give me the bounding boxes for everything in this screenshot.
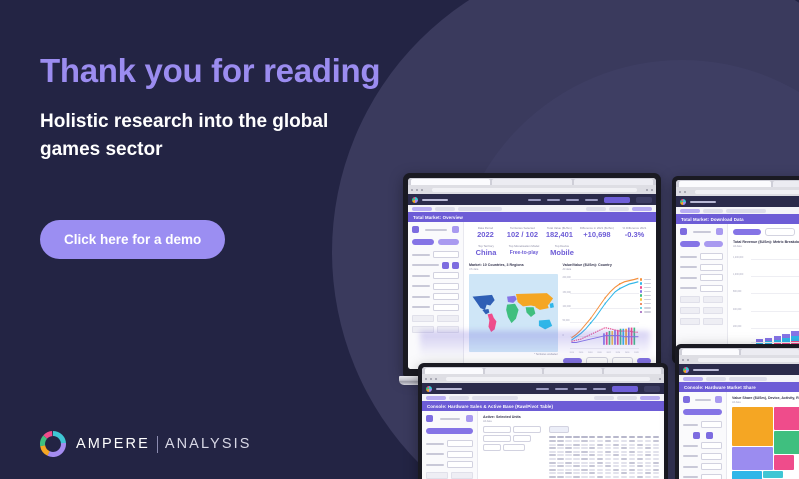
chart-legend[interactable] [640, 278, 652, 315]
table-grid[interactable] [549, 426, 659, 479]
forward-icon[interactable] [430, 378, 432, 380]
reload-icon[interactable] [435, 378, 437, 380]
filter-select[interactable] [433, 293, 459, 300]
dashboard-main: Total Revenue ($USm): Metric Breakdown A… [728, 224, 799, 360]
legend-item [640, 286, 652, 289]
browser-tab-strip[interactable] [422, 367, 664, 374]
kpi-card: Top Monetisation Model Free-to-play [507, 244, 541, 258]
kpi-card: Total Value ($USm) 182,401 [543, 226, 576, 240]
filter-cell[interactable] [412, 315, 434, 322]
app-body: Active: Selected Units All data [422, 411, 664, 479]
app-title: Total Market: Download Data [681, 217, 744, 222]
table-row [549, 476, 659, 478]
period-button[interactable] [426, 428, 473, 434]
browser-tab-strip[interactable] [408, 178, 656, 185]
tablet-browser-window[interactable]: Console: Hardware Market Share [679, 348, 799, 479]
filter-label [680, 287, 697, 289]
filter-cell[interactable] [451, 472, 473, 479]
browser-tab[interactable] [773, 181, 799, 187]
forward-icon[interactable] [684, 191, 686, 193]
filter-cell[interactable] [680, 296, 700, 303]
breadcrumb[interactable] [408, 205, 656, 212]
nav-item[interactable] [585, 199, 598, 201]
legend-item [640, 282, 652, 285]
filter-select[interactable] [701, 442, 722, 449]
sidebar-settings-icon[interactable] [715, 396, 722, 403]
reload-icon[interactable] [421, 189, 423, 191]
kpi-value: Free-to-play [507, 248, 541, 258]
table-row [549, 451, 659, 453]
line-chart-toggle[interactable] [765, 228, 795, 236]
nav-item[interactable] [547, 199, 560, 201]
legend-item [640, 311, 652, 314]
filter-select[interactable] [701, 463, 722, 470]
app-title: Console: Hardware Market Share [684, 385, 756, 390]
nav-item[interactable] [593, 388, 606, 390]
app-title: Total Market: Overview [413, 215, 463, 220]
nav-secondary-button[interactable] [636, 197, 652, 203]
table-tab[interactable] [549, 426, 569, 433]
table-row [549, 454, 659, 456]
donut-chart-icon [40, 431, 66, 457]
laptop-glow [420, 331, 650, 357]
filter-toggle[interactable] [693, 432, 700, 439]
menu-icon[interactable] [651, 189, 653, 191]
row-header-list[interactable] [483, 426, 546, 479]
toolbar-action-primary[interactable] [632, 207, 652, 211]
toolbar-action[interactable] [586, 207, 606, 211]
filter-select[interactable] [447, 461, 473, 468]
field-chip[interactable] [483, 426, 511, 433]
filter-select[interactable] [701, 421, 722, 428]
table-row [549, 469, 659, 471]
kpi-value: 2022 [469, 230, 502, 240]
filter-select[interactable] [447, 440, 473, 447]
filter-select[interactable] [700, 274, 723, 281]
filter-label [680, 277, 697, 279]
breadcrumb-actions[interactable] [594, 396, 660, 400]
filter-label [426, 464, 444, 466]
breadcrumb-item[interactable] [683, 377, 703, 381]
treemap-chart-top[interactable] [732, 407, 799, 479]
filter-label [412, 296, 430, 298]
app-title-bar: Console: Hardware Market Share [679, 382, 799, 392]
filter-toggle[interactable] [452, 262, 459, 269]
ampere-analysis-logo[interactable]: AMPERE ANALYSIS [40, 431, 252, 457]
kpi-value: +10,698 [580, 230, 614, 240]
filter-cell[interactable] [703, 318, 723, 325]
panel-title: Market: 10 Countries, 3 Regions [469, 263, 558, 267]
breadcrumb-search-input[interactable] [729, 377, 767, 381]
toolbar-action[interactable] [609, 207, 629, 211]
app-logo-icon [680, 199, 686, 205]
breadcrumb-search-input[interactable] [726, 209, 766, 213]
stacked-bar-chart[interactable]: 1,200,000 1,000,000 800,000 400,000 200,… [733, 251, 799, 347]
legend-item [640, 303, 652, 306]
app-header [408, 194, 656, 205]
period-button[interactable] [438, 239, 460, 245]
breadcrumb-actions[interactable] [586, 207, 652, 211]
filter-toggle[interactable] [706, 432, 713, 439]
sidebar-header-label [440, 418, 460, 420]
chart-gridlines [733, 251, 799, 347]
table-row [549, 458, 659, 460]
breadcrumb-item[interactable] [435, 207, 455, 211]
filter-sidebar[interactable] [422, 411, 478, 479]
panel-subtitle: All data [732, 401, 799, 404]
filter-select[interactable] [433, 272, 459, 279]
breadcrumb[interactable] [422, 394, 664, 401]
browser-tab[interactable] [604, 368, 662, 374]
treemap-tile[interactable] [774, 431, 799, 454]
treemap-main: Value Share ($USm), Device, Activity, Re… [727, 392, 799, 479]
filter-select[interactable] [701, 453, 722, 460]
breadcrumb[interactable] [679, 375, 799, 382]
period-button[interactable] [683, 409, 722, 415]
app-logo-icon [683, 367, 689, 373]
browser-tab[interactable] [492, 179, 571, 185]
sidebar-header-label [695, 399, 711, 401]
panel-subtitle: US data [469, 268, 558, 271]
app-logo-wordmark [422, 199, 448, 201]
panel-subtitle: All data [563, 268, 652, 271]
browser-tab[interactable] [425, 368, 483, 374]
url-input[interactable] [432, 188, 637, 192]
hero-copy: Thank you for reading Holistic research … [40, 52, 440, 164]
breadcrumb-item[interactable] [703, 209, 723, 213]
nav-item[interactable] [536, 388, 549, 390]
panel-subtitle: All data [733, 245, 799, 248]
period-button[interactable] [680, 241, 700, 247]
logo-text-primary: AMPERE [76, 436, 150, 452]
kpi-value: -0.3% [618, 230, 651, 240]
device-tablet-right: Total Market: Download Data [672, 176, 799, 364]
field-chip[interactable] [513, 426, 541, 433]
tablet-bezel: Console: Hardware Market Share [675, 344, 799, 479]
device-tablet-bottom-right: Console: Hardware Market Share [675, 344, 799, 479]
app-logo-icon [412, 197, 418, 203]
filter-select[interactable] [700, 285, 723, 292]
field-chip[interactable] [503, 444, 525, 451]
toolbar-action-primary[interactable] [640, 396, 660, 400]
kpi-strip-secondary: Top Territory China Top Monetisation Mod… [469, 244, 651, 258]
filter-select[interactable] [700, 264, 723, 271]
filter-sidebar[interactable] [676, 224, 728, 360]
kpi-card: % Difference 2021 -0.3% [618, 226, 651, 240]
app-body: Value Share ($USm), Device, Activity, Re… [679, 392, 799, 479]
nav-item[interactable] [528, 199, 541, 201]
app-logo-wordmark [693, 369, 719, 371]
filter-sidebar[interactable] [679, 392, 727, 479]
kpi-value: Mobile [545, 248, 579, 258]
tablet-bezel: Console: Hardware Sales & Active Base (R… [418, 363, 668, 479]
sidebar-toggle-icon[interactable] [680, 228, 687, 235]
browser-tab[interactable] [411, 179, 490, 185]
field-chips[interactable] [483, 426, 546, 451]
period-button[interactable] [704, 241, 724, 247]
filter-label [683, 455, 698, 457]
tablet-bezel: Total Market: Download Data [672, 176, 799, 364]
breadcrumb[interactable] [676, 207, 799, 214]
app-title-bar: Total Market: Download Data [676, 214, 799, 224]
legend-item [640, 307, 652, 310]
back-icon[interactable] [679, 191, 681, 193]
app-nav[interactable] [536, 386, 660, 392]
filter-select[interactable] [447, 451, 473, 458]
kpi-card: Top Device Mobile [545, 244, 579, 258]
table-row [549, 447, 659, 449]
url-input[interactable] [446, 377, 650, 381]
filter-toggle[interactable] [442, 262, 449, 269]
browser-tab[interactable] [682, 349, 739, 355]
device-tablet-bottom-left: Console: Hardware Sales & Active Base (R… [418, 363, 668, 479]
nav-secondary-button[interactable] [644, 386, 660, 392]
url-input[interactable] [695, 190, 799, 194]
filter-select[interactable] [700, 253, 723, 260]
sidebar-toggle-icon[interactable] [683, 396, 690, 403]
app-logo-wordmark [436, 388, 462, 390]
kpi-card: Difference in 2021 ($USm) +10,698 [580, 226, 614, 240]
filter-select[interactable] [433, 304, 459, 311]
filter-label [412, 285, 430, 287]
app-title: Console: Hardware Sales & Active Base (R… [427, 404, 553, 409]
panel-title: Total Revenue ($USm): Metric Breakdown [733, 240, 799, 244]
filter-cell[interactable] [703, 296, 723, 303]
browser-address-bar[interactable] [676, 187, 799, 196]
tablet-browser-window[interactable]: Console: Hardware Sales & Active Base (R… [422, 367, 664, 479]
sidebar-settings-icon[interactable] [452, 226, 459, 233]
filter-cell[interactable] [426, 472, 448, 479]
filter-label [412, 275, 430, 277]
tablet-browser-window[interactable]: Total Market: Download Data [676, 180, 799, 360]
browser-tab-strip[interactable] [676, 180, 799, 187]
sidebar-settings-icon[interactable] [466, 415, 473, 422]
app-nav[interactable] [528, 197, 652, 203]
kpi-card: Territories Selected 102 / 102 [506, 226, 539, 240]
forward-icon[interactable] [687, 359, 689, 361]
browser-tab[interactable] [679, 181, 771, 187]
browser-tab[interactable] [544, 368, 602, 374]
chart-type-toggle[interactable] [733, 228, 799, 236]
table-row [549, 462, 659, 464]
kpi-card: Data Period 2022 [469, 226, 502, 240]
legend-item [640, 298, 652, 301]
app-header [422, 383, 664, 394]
legend-item [640, 290, 652, 293]
forward-icon[interactable] [416, 189, 418, 191]
demo-cta-button[interactable]: Click here for a demo [40, 220, 225, 259]
nav-item[interactable] [574, 388, 587, 390]
app-title-bar: Console: Hardware Sales & Active Base (R… [422, 401, 664, 411]
browser-tab[interactable] [574, 179, 653, 185]
toolbar-action[interactable] [617, 396, 637, 400]
kpi-value: China [469, 248, 503, 258]
filter-select[interactable] [433, 283, 459, 290]
filter-label [683, 466, 698, 468]
sidebar-toggle-icon[interactable] [412, 226, 419, 233]
filter-label [412, 264, 439, 266]
breadcrumb-item[interactable] [449, 396, 469, 400]
url-input[interactable] [698, 358, 799, 362]
filter-cell[interactable] [703, 307, 723, 314]
filter-select[interactable] [433, 251, 459, 258]
breadcrumb-item[interactable] [706, 377, 726, 381]
breadcrumb-item[interactable] [426, 396, 446, 400]
browser-tab[interactable] [741, 349, 798, 355]
filter-select[interactable] [701, 474, 722, 479]
filter-label [426, 443, 444, 445]
sidebar-header-label [425, 229, 447, 231]
breadcrumb-item[interactable] [680, 209, 700, 213]
browser-address-bar[interactable] [679, 355, 799, 364]
sidebar-settings-icon[interactable] [716, 228, 723, 235]
table-header-row [549, 436, 659, 438]
bar-chart-toggle[interactable] [733, 229, 761, 235]
filter-label [683, 424, 698, 426]
logo-text-secondary: ANALYSIS [165, 436, 252, 452]
filter-label [426, 453, 444, 455]
kpi-strip: Data Period 2022 Territories Selected 10… [469, 226, 651, 240]
table-row [549, 440, 659, 442]
filter-label [680, 256, 697, 258]
browser-address-bar[interactable] [422, 374, 664, 383]
legend-item [640, 278, 652, 281]
filter-label [412, 306, 430, 308]
sidebar-header-label [693, 231, 711, 233]
logo-divider [157, 436, 158, 453]
app-header [679, 364, 799, 375]
app-body: Total Revenue ($USm): Metric Breakdown A… [676, 224, 799, 360]
pivot-table[interactable] [483, 426, 659, 479]
table-row [549, 465, 659, 467]
menu-icon[interactable] [659, 378, 661, 380]
table-main: Active: Selected Units All data [478, 411, 664, 479]
treemap-tile[interactable] [774, 455, 794, 470]
filter-label [412, 254, 430, 256]
browser-address-bar[interactable] [408, 185, 656, 194]
field-chip[interactable] [513, 435, 531, 442]
app-logo-wordmark [690, 201, 716, 203]
nav-primary-button[interactable] [604, 197, 630, 203]
browser-tab-strip[interactable] [679, 348, 799, 355]
breadcrumb-search-input[interactable] [458, 207, 502, 211]
breadcrumb-search-input[interactable] [472, 396, 518, 400]
breadcrumb-item[interactable] [412, 207, 432, 211]
page-title: Thank you for reading [40, 52, 440, 90]
kpi-card: Top Territory China [469, 244, 503, 258]
treemap-tile[interactable] [732, 471, 762, 479]
browser-tab[interactable] [485, 368, 543, 374]
nav-item[interactable] [555, 388, 568, 390]
app-header [676, 196, 799, 207]
filter-label [683, 476, 698, 478]
filter-label [683, 445, 698, 447]
filter-cell[interactable] [680, 318, 700, 325]
back-icon[interactable] [425, 378, 427, 380]
panel-title: Active: Selected Units [483, 415, 659, 419]
table-row [549, 444, 659, 446]
back-icon[interactable] [411, 189, 413, 191]
panel-subtitle: All data [483, 420, 659, 423]
back-icon[interactable] [682, 359, 684, 361]
treemap-tile[interactable] [732, 447, 773, 470]
app-title-bar: Total Market: Overview [408, 212, 656, 222]
panel-title: Value Share ($USm), Device, Activity, Re… [732, 396, 799, 400]
kpi-value: 102 / 102 [506, 230, 539, 240]
treemap-tile[interactable] [774, 407, 799, 430]
treemap-tile[interactable] [732, 407, 773, 446]
panel-title: Value/Value ($USm): Country [563, 263, 652, 267]
field-chip[interactable] [483, 435, 511, 442]
field-chip[interactable] [483, 444, 501, 451]
filter-cell[interactable] [437, 315, 459, 322]
table-row [549, 472, 659, 474]
nav-primary-button[interactable] [612, 386, 638, 392]
filter-label [680, 266, 697, 268]
toolbar-action[interactable] [594, 396, 614, 400]
bookmark-icon[interactable] [646, 189, 648, 191]
nav-item[interactable] [566, 199, 579, 201]
legend-item [640, 294, 652, 297]
hero-subtitle: Holistic research into the global games … [40, 108, 380, 164]
sidebar-toggle-icon[interactable] [426, 415, 433, 422]
app-logo-icon [426, 386, 432, 392]
filter-cell[interactable] [680, 307, 700, 314]
kpi-value: 182,401 [543, 230, 576, 240]
treemap-tile[interactable] [763, 471, 783, 478]
period-button[interactable] [412, 239, 434, 245]
poster-canvas: Thank you for reading Holistic research … [0, 0, 799, 479]
tab-strip[interactable] [549, 426, 659, 433]
